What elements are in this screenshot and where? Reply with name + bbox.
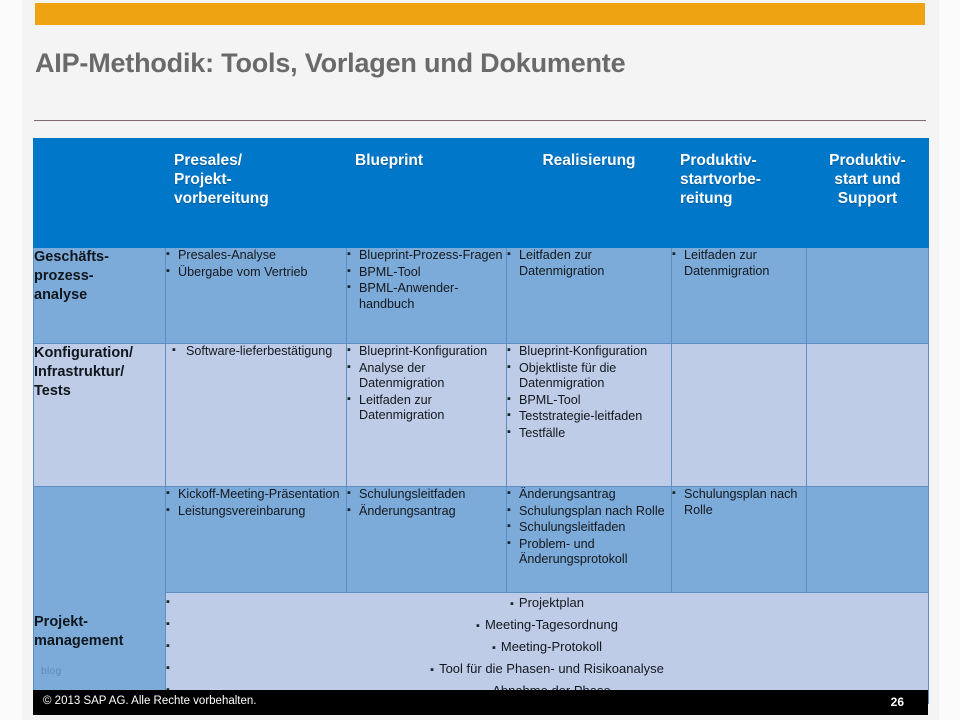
list-item: Schulungsplan nach Rolle bbox=[672, 487, 806, 518]
list-item: Übergabe vom Vertrieb bbox=[166, 265, 346, 281]
slide-canvas: AIP-Methodik: Tools, Vorlagen und Dokume… bbox=[0, 0, 960, 720]
list-item: ▪Meeting-Protokoll bbox=[166, 637, 928, 658]
cell-r2-c3: Änderungsantrag Schulungsplan nach Rolle… bbox=[507, 487, 672, 593]
table-header-row: Presales/ Projekt- vorbereitung Blueprin… bbox=[34, 139, 929, 248]
slide-footer: © 2013 SAP AG. Alle Rechte vorbehalten. … bbox=[33, 690, 928, 715]
list-item: BPML-Anwender-handbuch bbox=[347, 281, 506, 312]
bullet-list: Blueprint-Prozess-Fragen BPML-Tool BPML-… bbox=[347, 248, 506, 312]
bullet-square-icon: ▪ bbox=[476, 620, 480, 632]
cell-r2-c1: Kickoff-Meeting-Präsentation Leistungsve… bbox=[166, 487, 347, 593]
list-item: ▪Tool für die Phasen- und Risikoanalyse bbox=[166, 659, 928, 680]
row-header-line1: Projekt- bbox=[34, 614, 88, 630]
header-cell-produktivstart-vorbereitung: Produktiv- startvorbe- reitung bbox=[672, 139, 807, 248]
header-label-line2: start und bbox=[834, 171, 900, 188]
list-item-label: Meeting-Protokoll bbox=[501, 639, 602, 654]
list-item: Analyse der Datenmigration bbox=[347, 361, 506, 392]
list-item-label: Meeting-Tagesordnung bbox=[485, 617, 618, 632]
bullet-square-icon: ▪ bbox=[510, 598, 514, 610]
list-item: Schulungsleitfaden bbox=[347, 487, 506, 503]
list-item: BPML-Tool bbox=[347, 265, 506, 281]
header-label-line2: Projekt- bbox=[174, 171, 232, 188]
row-header-geschaeftsprozessanalyse: Geschäfts- prozess- analyse bbox=[34, 248, 166, 344]
row-header-line3: analyse bbox=[34, 287, 87, 303]
list-item: Software-lieferbestätigung bbox=[166, 344, 346, 360]
title-divider bbox=[34, 120, 926, 121]
list-item: ▪Projektplan bbox=[166, 593, 928, 614]
list-item: Teststrategie-leitfaden bbox=[507, 409, 671, 425]
cell-r1-c4 bbox=[672, 344, 807, 487]
list-item: Kickoff-Meeting-Präsentation bbox=[166, 487, 346, 503]
list-item: Schulungsleitfaden bbox=[507, 520, 671, 536]
list-item-label: Tool für die Phasen- und Risikoanalyse bbox=[439, 661, 664, 676]
bullet-list-centered: ▪Projektplan ▪Meeting-Tagesordnung ▪Meet… bbox=[166, 593, 928, 702]
cell-r2-c5 bbox=[807, 487, 929, 593]
tools-matrix-table: Presales/ Projekt- vorbereitung Blueprin… bbox=[33, 138, 929, 704]
list-item: Leitfaden zur Datenmigration bbox=[507, 248, 671, 279]
page-title: AIP-Methodik: Tools, Vorlagen und Dokume… bbox=[35, 48, 915, 79]
cell-merged-projektmanagement-common: ▪Projektplan ▪Meeting-Tagesordnung ▪Meet… bbox=[166, 593, 929, 704]
cell-r2-c2: Schulungsleitfaden Änderungsantrag bbox=[347, 487, 507, 593]
cell-r1-c2: Blueprint-Konfiguration Analyse der Date… bbox=[347, 344, 507, 487]
list-item: Änderungsantrag bbox=[347, 504, 506, 520]
list-item: Objektliste für die Datenmigration bbox=[507, 361, 671, 392]
bullet-list: Schulungsplan nach Rolle bbox=[672, 487, 806, 518]
bullet-square-icon: ▪ bbox=[430, 664, 434, 676]
bullet-square-icon: ▪ bbox=[492, 642, 496, 654]
copyright-text: © 2013 SAP AG. Alle Rechte vorbehalten. bbox=[43, 695, 256, 707]
list-item: ▪Meeting-Tagesordnung bbox=[166, 615, 928, 636]
header-label-line3: reitung bbox=[680, 190, 733, 207]
list-item: BPML-Tool bbox=[507, 393, 671, 409]
list-item: Blueprint-Konfiguration bbox=[507, 344, 671, 360]
accent-top-bar bbox=[35, 3, 925, 25]
header-label-line1: Produktiv- bbox=[829, 152, 906, 169]
cell-r1-c1: Software-lieferbestätigung bbox=[166, 344, 347, 487]
header-label-line3: vorbereitung bbox=[174, 190, 269, 207]
cell-r1-c3: Blueprint-Konfiguration Objektliste für … bbox=[507, 344, 672, 487]
row-header-line2: prozess- bbox=[34, 268, 94, 284]
cell-r0-c2: Blueprint-Prozess-Fragen BPML-Tool BPML-… bbox=[347, 248, 507, 344]
bullet-list: Blueprint-Konfiguration Objektliste für … bbox=[507, 344, 671, 441]
row-header-line1: Konfiguration/ bbox=[34, 345, 133, 361]
bullet-list: Kickoff-Meeting-Präsentation Leistungsve… bbox=[166, 487, 346, 519]
row-header-line1: Geschäfts- bbox=[34, 249, 109, 265]
list-item: Änderungsantrag bbox=[507, 487, 671, 503]
bullet-list: Blueprint-Konfiguration Analyse der Date… bbox=[347, 344, 506, 424]
row-header-line2: Infrastruktur/ bbox=[34, 364, 124, 380]
list-item: Presales-Analyse bbox=[166, 248, 346, 264]
cell-r2-c4: Schulungsplan nach Rolle bbox=[672, 487, 807, 593]
header-cell-blueprint: Blueprint bbox=[347, 139, 507, 248]
bullet-list: Leitfaden zur Datenmigration bbox=[507, 248, 671, 279]
header-cell-presales: Presales/ Projekt- vorbereitung bbox=[166, 139, 347, 248]
list-item: Leistungsvereinbarung bbox=[166, 504, 346, 520]
bullet-list: Presales-Analyse Übergabe vom Vertrieb bbox=[166, 248, 346, 280]
right-gutter bbox=[939, 0, 960, 720]
table-row: Konfiguration/ Infrastruktur/ Tests Soft… bbox=[34, 344, 929, 487]
bullet-list: Schulungsleitfaden Änderungsantrag bbox=[347, 487, 506, 519]
cell-r0-c5 bbox=[807, 248, 929, 344]
header-cell-realisierung: Realisierung bbox=[507, 139, 672, 248]
header-label-line3: Support bbox=[838, 190, 897, 207]
list-item: Blueprint-Konfiguration bbox=[347, 344, 506, 360]
header-label-line2: startvorbe- bbox=[680, 171, 761, 188]
blog-watermark: blog bbox=[41, 666, 62, 677]
header-label-line1: Produktiv- bbox=[680, 152, 757, 169]
cell-r0-c3: Leitfaden zur Datenmigration bbox=[507, 248, 672, 344]
row-header-line3: Tests bbox=[34, 383, 71, 399]
table-row: Geschäfts- prozess- analyse Presales-Ana… bbox=[34, 248, 929, 344]
row-header-konfiguration-infrastruktur-tests: Konfiguration/ Infrastruktur/ Tests bbox=[34, 344, 166, 487]
cell-r0-c4: Leitfaden zur Datenmigration bbox=[672, 248, 807, 344]
header-cell-produktivstart-support: Produktiv- start und Support bbox=[807, 139, 929, 248]
row-header-line2: management bbox=[34, 633, 123, 649]
page-number: 26 bbox=[891, 695, 904, 709]
list-item: Blueprint-Prozess-Fragen bbox=[347, 248, 506, 264]
cell-r1-c5 bbox=[807, 344, 929, 487]
list-item: Testfälle bbox=[507, 426, 671, 442]
table-row-merged: ▪Projektplan ▪Meeting-Tagesordnung ▪Meet… bbox=[34, 593, 929, 704]
table-row: Projekt- management Kickoff-Meeting-Präs… bbox=[34, 487, 929, 593]
list-item: Schulungsplan nach Rolle bbox=[507, 504, 671, 520]
list-item: Leitfaden zur Datenmigration bbox=[672, 248, 806, 279]
cell-r0-c1: Presales-Analyse Übergabe vom Vertrieb bbox=[166, 248, 347, 344]
header-label-realisierung: Realisierung bbox=[542, 152, 635, 169]
header-label-line1: Presales/ bbox=[174, 152, 242, 169]
header-label-blueprint: Blueprint bbox=[355, 152, 423, 169]
list-item-label: Projektplan bbox=[519, 595, 584, 610]
bullet-list: Software-lieferbestätigung bbox=[166, 344, 346, 360]
left-gutter bbox=[0, 0, 23, 720]
header-cell-blank bbox=[34, 139, 166, 248]
list-item: Leitfaden zur Datenmigration bbox=[347, 393, 506, 424]
list-item: Problem- und Änderungsprotokoll bbox=[507, 537, 671, 568]
bullet-list: Änderungsantrag Schulungsplan nach Rolle… bbox=[507, 487, 671, 568]
bullet-list: Leitfaden zur Datenmigration bbox=[672, 248, 806, 279]
